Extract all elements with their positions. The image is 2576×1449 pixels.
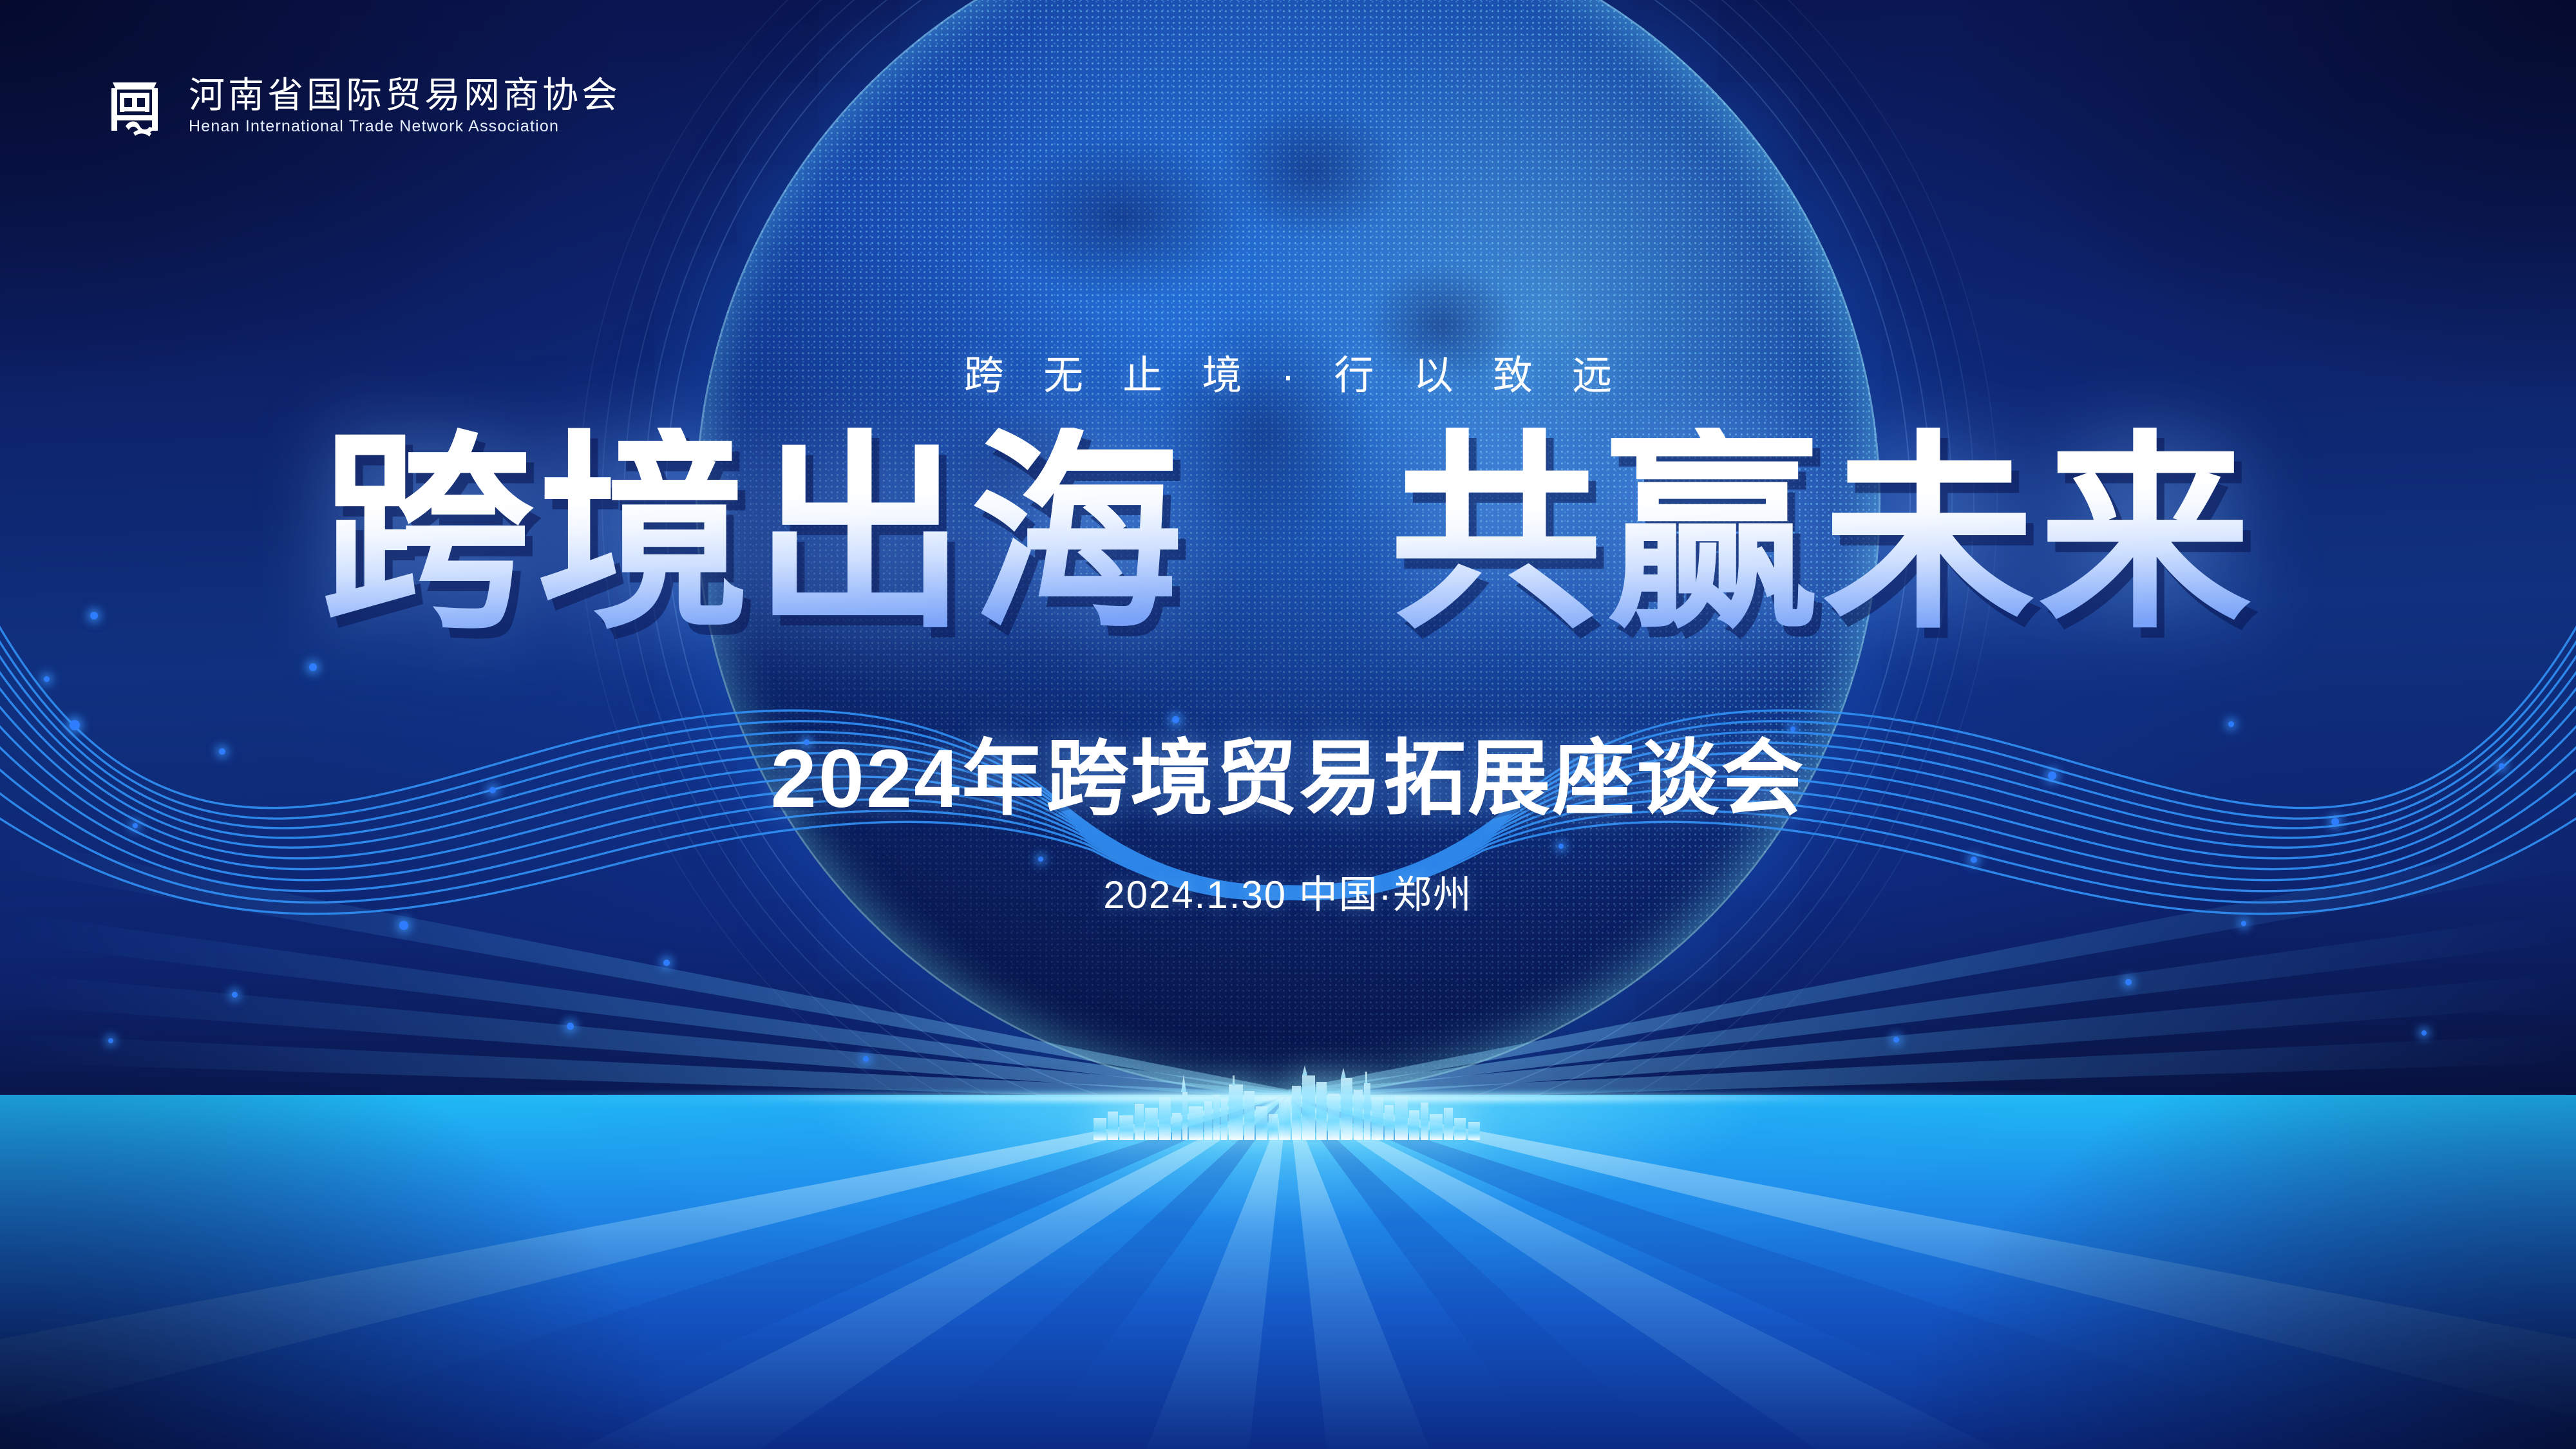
hero-event-info: 2024.1.30 中国·郑州	[0, 876, 2576, 914]
main-title-left: 跨境出海	[321, 428, 1186, 640]
particle	[309, 663, 317, 671]
particle	[44, 676, 50, 682]
floor-light-rays	[0, 1095, 2576, 1449]
particle	[70, 720, 80, 730]
event-poster: 河南省国际贸易网商协会 Henan International Trade Ne…	[0, 0, 2576, 1449]
logo-chinese-name: 河南省国际贸易网商协会	[189, 77, 621, 113]
main-title-left-text: 跨境出海	[321, 428, 1186, 640]
hero-subtitle: 2024年跨境贸易拓展座谈会	[0, 738, 2576, 820]
logo-english-name: Henan International Trade Network Associ…	[189, 118, 621, 135]
logo-text-block: 河南省国际贸易网商协会 Henan International Trade Ne…	[189, 77, 621, 135]
seal-shang-logo-icon	[100, 71, 169, 140]
city-skyline-icon	[1088, 1056, 1488, 1140]
association-logo[interactable]: 河南省国际贸易网商协会 Henan International Trade Ne…	[100, 71, 621, 140]
hero-main-title: 跨境出海 共赢未来	[0, 428, 2576, 640]
main-title-right-text: 共赢未来	[1390, 428, 2255, 640]
particle	[2228, 721, 2234, 727]
hero-tagline: 跨 无 止 境 · 行 以 致 远	[0, 356, 2576, 396]
main-title-right: 共赢未来	[1390, 428, 2255, 640]
